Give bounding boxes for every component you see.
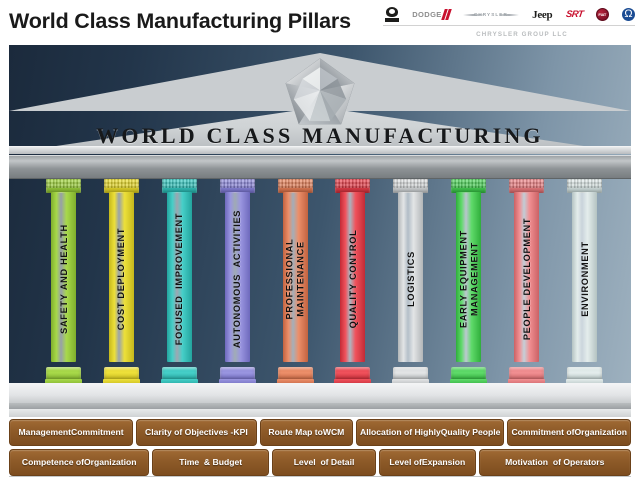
- chrysler-pentastar-icon: [283, 57, 357, 127]
- brand-logo-bar: DODGE CHRYSLER Jeep SRT: [385, 5, 635, 24]
- pillar-7[interactable]: LOGISTICS: [398, 171, 423, 386]
- pillar-1[interactable]: SAFETY AND HEALTH: [51, 171, 76, 386]
- pillar-shaft: [514, 192, 539, 362]
- pillar-shaft: [340, 192, 365, 362]
- pillar-8[interactable]: EARLY EQUIPMENTMANAGEMENT: [456, 171, 481, 386]
- jeep-logo-icon: Jeep: [532, 6, 552, 23]
- foundation-box[interactable]: Allocation of HighlyQuality People: [356, 419, 504, 446]
- entablature: [9, 155, 631, 179]
- mopar-logo-icon: [622, 6, 635, 23]
- pillar-shaft: [167, 192, 192, 362]
- foundation-row-2: Competence ofOrganizationTime & BudgetLe…: [9, 449, 631, 476]
- pillar-10[interactable]: ENVIRONMENT: [572, 171, 597, 386]
- pillar-9[interactable]: PEOPLE DEVELOPMENT: [514, 171, 539, 386]
- pillar-shaft: [456, 192, 481, 362]
- pillar-shaft: [283, 192, 308, 362]
- pillar-shaft: [398, 192, 423, 362]
- foundation-divider: [9, 476, 631, 477]
- dodge-logo-icon: DODGE: [412, 6, 450, 23]
- chrysler-wing-logo-icon: CHRYSLER: [463, 6, 519, 23]
- foundation-box[interactable]: Competence ofOrganization: [9, 449, 149, 476]
- foundation-blocks: ManagementCommitmentClarity of Objective…: [9, 419, 631, 477]
- pillar-shaft: [225, 192, 250, 362]
- foundation-row-1: ManagementCommitmentClarity of Objective…: [9, 419, 631, 446]
- corporate-name: CHRYSLER GROUP LLC: [462, 31, 582, 38]
- foundation-box[interactable]: ManagementCommitment: [9, 419, 133, 446]
- pediment: WORLD CLASS MANUFACTURING: [9, 45, 631, 157]
- foundation-box[interactable]: Time & Budget: [152, 449, 268, 476]
- pillar-5[interactable]: PROFESSIONALMAINTENANCE: [283, 171, 308, 386]
- foundation-box[interactable]: Level of Detail: [272, 449, 376, 476]
- foundation-box[interactable]: Route Map toWCM: [260, 419, 353, 446]
- pillar-3[interactable]: FOCUSED IMPROVEMENT: [167, 171, 192, 386]
- pillar-2[interactable]: COST DEPLOYMENT: [109, 171, 134, 386]
- pillar-shaft: [51, 192, 76, 362]
- pillar-shaft: [109, 192, 134, 362]
- foundation-box[interactable]: Motivation of Operators: [479, 449, 632, 476]
- temple-steps: [9, 383, 631, 417]
- ram-logo-icon: [385, 6, 399, 23]
- header-divider: [383, 25, 635, 26]
- srt-logo-icon: SRT: [566, 6, 583, 23]
- foundation-box[interactable]: Commitment ofOrganization: [507, 419, 631, 446]
- pillar-6[interactable]: QUALITY CONTROL: [340, 171, 365, 386]
- step-upper: [9, 383, 631, 403]
- pillar-shaft: [572, 192, 597, 362]
- page-title: World Class Manufacturing Pillars: [9, 9, 351, 34]
- foundation-box[interactable]: Clarity of Objectives -KPI: [136, 419, 257, 446]
- temple-illustration: WORLD CLASS MANUFACTURING SAFETY AND HEA…: [9, 45, 631, 417]
- step-lower: [9, 409, 631, 417]
- foundation-box[interactable]: Level ofExpansion: [379, 449, 475, 476]
- slide-root: World Class Manufacturing Pillars DODGE …: [0, 0, 640, 483]
- slide-header: World Class Manufacturing Pillars DODGE …: [0, 0, 640, 48]
- fiat-logo-icon: [596, 6, 609, 23]
- pillar-colonnade: SAFETY AND HEALTHCOST DEPLOYMENTFOCUSED …: [9, 171, 631, 386]
- pillar-4[interactable]: AUTONOMOUS ACTIVITIES: [225, 171, 250, 386]
